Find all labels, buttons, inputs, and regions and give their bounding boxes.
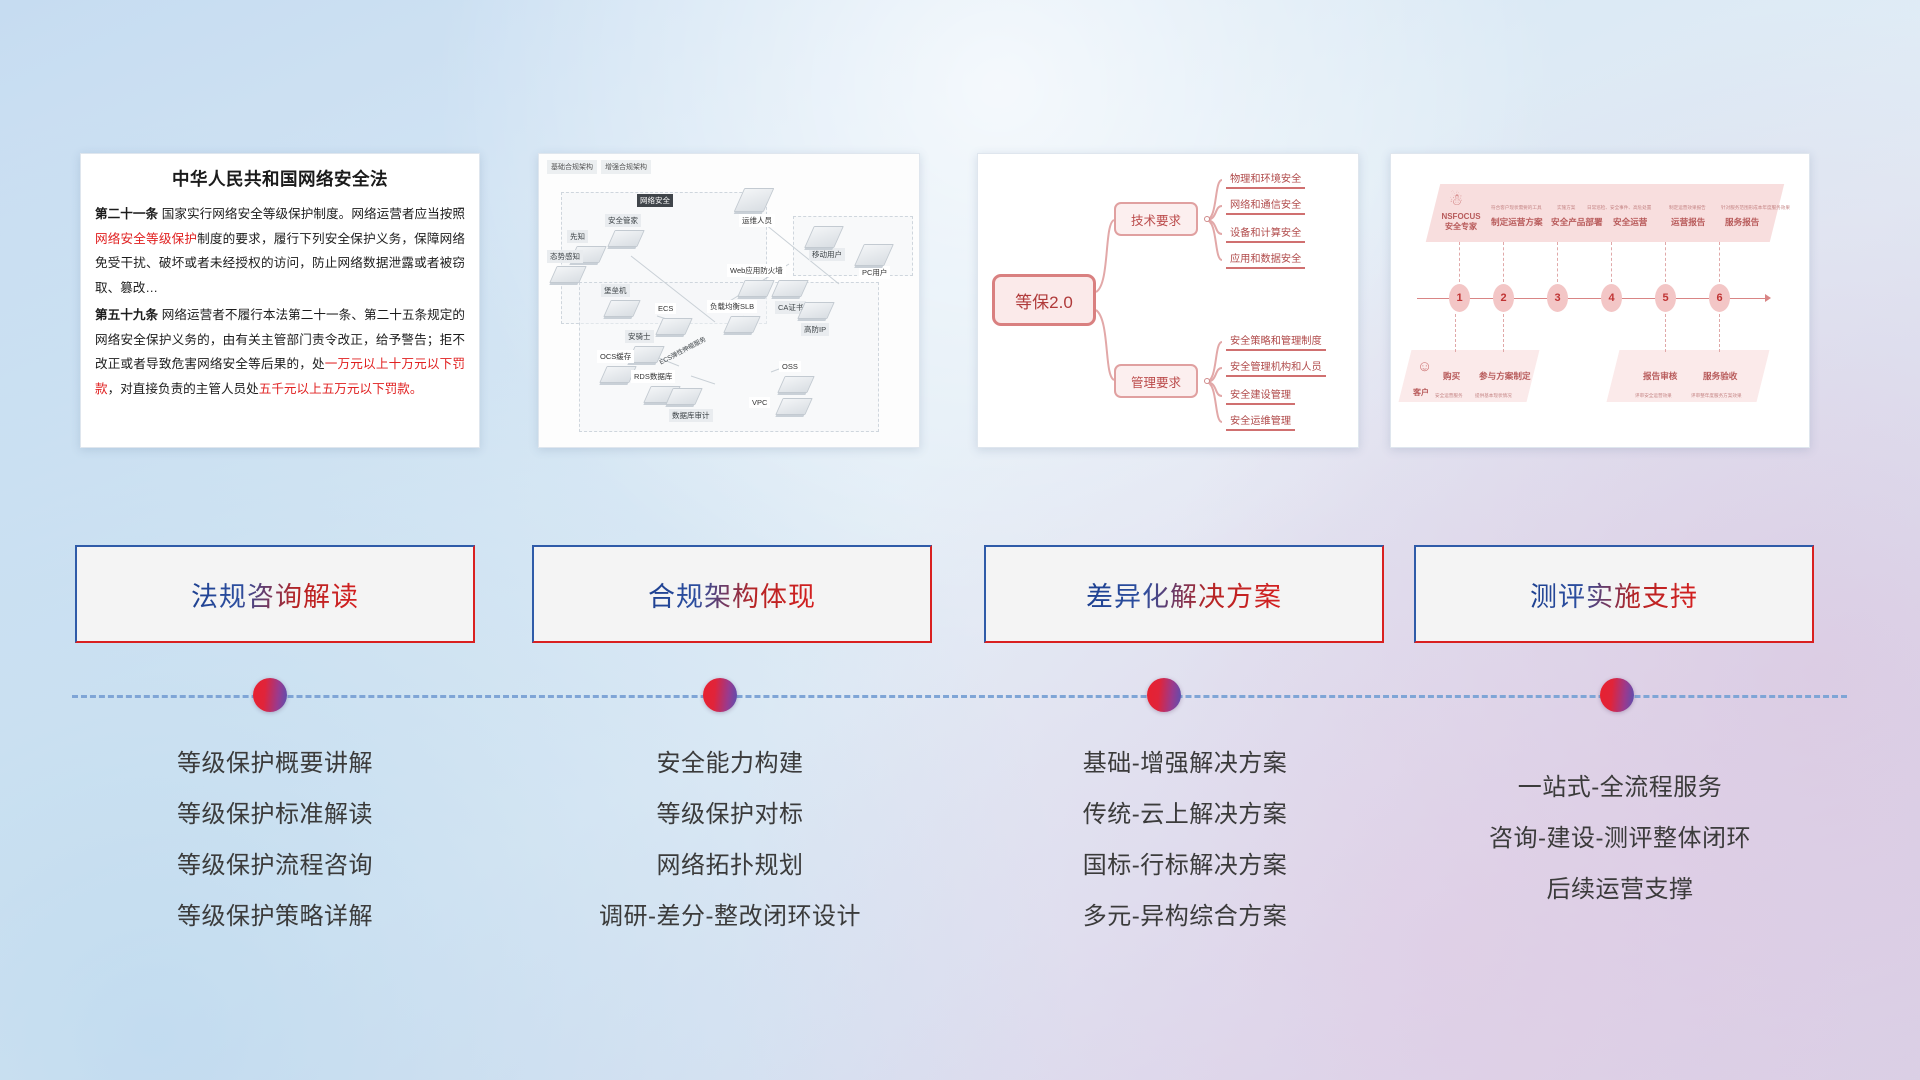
architecture-label-mobile-user: 移动用户 [809,248,845,261]
nsfocus-tick-b5 [1665,314,1666,352]
nsfocus-step-4[interactable]: 4 [1601,284,1622,312]
list-item: 等级保护流程咨询 [70,840,480,891]
nsfocus-axis-arrow-icon [1765,294,1771,302]
nsfocus-step6-bottom-sub: 评审整年度服务方案效果 [1691,393,1742,398]
architecture-cube-ca [771,280,809,297]
mindmap-leaf-org-personnel: 安全管理机构和人员 [1226,358,1326,377]
architecture-label-security-butler: 安全管家 [605,214,641,227]
list-item: 等级保护标准解读 [70,789,480,840]
architecture-cube-3 [549,266,587,283]
nsfocus-step4-top-sub: 日常巡检、安全事件、高危处置 [1587,205,1651,210]
nsfocus-step2-top-sub: 符合客户现状需要的工具 [1491,205,1542,210]
law-article-59: 第五十九条 网络运营者不履行本法第二十一条、第二十五条规定的网络安全保护义务的，… [95,303,465,401]
section-header-assessment-support[interactable]: 测评实施支持 [1414,545,1814,643]
mindmap-collapse-dot-management[interactable] [1204,378,1210,384]
detail-list-column-4: 一站式-全流程服务 咨询-建设-测评整体闭环 后续运营支撑 [1400,762,1840,915]
nsfocus-tick-1 [1459,242,1460,282]
section-header-label-1: 法规咨询解读 [191,575,359,614]
card-compliance-architecture[interactable]: 基础合规架构 增强合规架构 网络安全 安全管家 [538,153,920,448]
mindmap-diagram: 等保2.0 技术要求 物理和环境安全 网络和通信安全 [978,154,1358,447]
timeline-bullet-3[interactable] [1147,678,1181,712]
architecture-label-waf: Web应用防火墙 [727,264,786,277]
section-headers-row: 法规咨询解读 合规架构体现 差异化解决方案 测评实施支持 [0,545,1920,643]
section-header-differentiated-solution[interactable]: 差异化解决方案 [984,545,1384,643]
architecture-label-pc-user: PC用户 [859,266,890,279]
law-title: 中华人民共和国网络安全法 [95,166,465,191]
mindmap-leaf-policy-system: 安全策略和管理制度 [1226,332,1326,351]
nsfocus-timeline-diagram: ☃ NSFOCUS 安全专家 符合客户现状需要的工具 制定运营方案 实施方案 安… [1391,154,1809,447]
architecture-diagram: 基础合规架构 增强合规架构 网络安全 安全管家 [539,154,919,447]
nsfocus-step-1[interactable]: 1 [1449,284,1470,312]
list-item: 一站式-全流程服务 [1400,762,1840,813]
detail-list-column-1: 等级保护概要讲解 等级保护标准解读 等级保护流程咨询 等级保护策略详解 [70,738,480,942]
detail-list-column-3: 基础-增强解决方案 传统-云上解决方案 国标-行标解决方案 多元-异构综合方案 [965,738,1405,942]
law-text-body: 中华人民共和国网络安全法 第二十一条 国家实行网络安全等级保护制度。网络运营者应… [81,154,479,412]
mindmap-leaf-construction-mgmt: 安全建设管理 [1226,386,1295,405]
card-nsfocus-service-flow[interactable]: ☃ NSFOCUS 安全专家 符合客户现状需要的工具 制定运营方案 实施方案 安… [1390,153,1810,448]
nsfocus-tick-3 [1557,242,1558,282]
timeline-dashed-line [72,695,1847,698]
section-header-compliance-architecture[interactable]: 合规架构体现 [532,545,932,643]
nsfocus-step6-top-cap: 服务报告 [1725,217,1759,227]
nsfocus-tick-6 [1719,242,1720,282]
law-article-21-highlight: 网络安全等级保护 [95,232,197,246]
architecture-cube-slb [723,316,761,333]
nsfocus-step6-bottom-cap: 服务验收 [1703,371,1737,381]
list-item: 等级保护策略详解 [70,891,480,942]
list-item: 传统-云上解决方案 [965,789,1405,840]
architecture-cube-antiddos [797,302,835,319]
nsfocus-step-3[interactable]: 3 [1547,284,1568,312]
law-article-59-label: 第五十九条 [95,308,158,322]
section-header-label-2: 合规架构体现 [648,575,816,614]
list-item: 等级保护对标 [525,789,935,840]
architecture-cube-1 [607,230,645,247]
nsfocus-tick-b6 [1719,314,1720,352]
nsfocus-step3-top-sub: 实施方案 [1557,205,1575,210]
architecture-cube-oss [777,376,815,393]
list-item: 网络拓扑规划 [525,840,935,891]
detail-lists-row: 等级保护概要讲解 等级保护标准解读 等级保护流程咨询 等级保护策略详解 安全能力… [0,738,1920,988]
architecture-cube-ops [734,188,775,212]
reference-cards-row: 中华人民共和国网络安全法 第二十一条 国家实行网络安全等级保护制度。网络运营者应… [0,0,1920,470]
card-cybersecurity-law[interactable]: 中华人民共和国网络安全法 第二十一条 国家实行网络安全等级保护制度。网络运营者应… [80,153,480,448]
architecture-cube-db-audit [665,388,703,405]
architecture-label-anqishi: 安骑士 [625,330,654,343]
list-item: 基础-增强解决方案 [965,738,1405,789]
nsfocus-step5-bottom-sub: 评审安全运营效果 [1635,393,1672,398]
architecture-label-ops-staff: 运维人员 [739,214,775,227]
law-article-21: 第二十一条 国家实行网络安全等级保护制度。网络运营者应当按照网络安全等级保护制度… [95,202,465,300]
section-header-label-3: 差异化解决方案 [1086,575,1282,614]
list-item: 多元-异构综合方案 [965,891,1405,942]
law-article-59-highlight-2: 五千元以上五万元以下罚款。 [259,382,423,396]
mindmap-leaf-network-comm: 网络和通信安全 [1226,196,1305,215]
list-item: 等级保护概要讲解 [70,738,480,789]
architecture-label-xianzhi: 先知 [567,230,588,243]
architecture-label-oss: OSS [779,361,801,372]
nsfocus-tick-2 [1503,242,1504,282]
architecture-label-anti-ddos-ip: 高防IP [801,323,829,336]
architecture-cube-4 [603,300,641,317]
architecture-label-ocs-cache: OCS缓存 [597,350,634,363]
mindmap-leaf-ops-mgmt: 安全运维管理 [1226,412,1295,431]
nsfocus-expert-role-line1: NSFOCUS [1435,212,1487,221]
mindmap-branch-management: 管理要求 [1114,364,1198,398]
timeline-bullet-2[interactable] [703,678,737,712]
nsfocus-step-5[interactable]: 5 [1655,284,1676,312]
architecture-cube-waf [737,280,775,297]
detail-list-column-2: 安全能力构建 等级保护对标 网络拓扑规划 调研-差分-整改闭环设计 [525,738,935,942]
mindmap-leaf-app-data: 应用和数据安全 [1226,250,1305,269]
nsfocus-step3-top-cap: 安全产品部署 [1551,217,1603,227]
nsfocus-expert-role: NSFOCUS 安全专家 [1435,212,1487,232]
mindmap-root: 等保2.0 [992,274,1096,326]
architecture-label-db-audit: 数据库审计 [669,409,713,422]
nsfocus-step1-bottom-cap: 购买 [1443,371,1460,381]
architecture-label-bastion-host: 堡垒机 [601,284,630,297]
architecture-cube-pc [854,244,894,266]
nsfocus-tick-b2 [1503,314,1504,352]
architecture-label-slb: 负载均衡SLB [707,300,757,313]
nsfocus-tick-5 [1665,242,1666,282]
architecture-label-rds: RDS数据库 [631,370,675,383]
customer-person-icon: ☺ [1417,358,1432,375]
law-article-59-mid: ，对直接负责的主管人员处 [108,382,259,396]
nsfocus-customer-band-right [1607,350,1770,402]
nsfocus-step5-top-sub: 制定运营效果报告 [1669,205,1706,210]
nsfocus-customer-role: 客户 [1413,388,1429,397]
mindmap-branch-technical: 技术要求 [1114,202,1198,236]
section-header-regulation-consulting[interactable]: 法规咨询解读 [75,545,475,643]
expert-person-icon: ☃ [1449,190,1463,210]
list-item: 调研-差分-整改闭环设计 [525,891,935,942]
list-item: 国标-行标解决方案 [965,840,1405,891]
architecture-label-network-security: 网络安全 [637,194,673,207]
nsfocus-step5-bottom-cap: 报告审核 [1643,371,1677,381]
nsfocus-expert-role-line2: 安全专家 [1435,221,1487,232]
timeline-connector [0,669,1920,723]
nsfocus-step6-top-sub: 针对服务范围形成本年度服务效果 [1721,205,1790,210]
card-dengbao-mindmap[interactable]: 等保2.0 技术要求 物理和环境安全 网络和通信安全 [977,153,1359,448]
law-article-21-label: 第二十一条 [95,207,158,221]
nsfocus-step2-bottom-sub: 提供基本现状情况 [1475,393,1512,398]
architecture-cube-mobile [804,226,844,248]
nsfocus-step1-bottom-sub: 安全运营服务 [1435,393,1463,398]
mindmap-leaf-physical-env: 物理和环境安全 [1226,170,1305,189]
list-item: 咨询-建设-测评整体闭环 [1400,813,1840,864]
mindmap-leaf-device-compute: 设备和计算安全 [1226,224,1305,243]
law-article-21-pre: 国家实行网络安全等级保护制度。网络运营者应当按照 [158,207,465,221]
architecture-label-ecs: ECS [655,303,676,314]
nsfocus-tick-b1 [1455,314,1456,352]
nsfocus-step5-top-cap: 运营报告 [1671,217,1705,227]
timeline-bullet-4[interactable] [1600,678,1634,712]
nsfocus-tick-4 [1611,242,1612,282]
architecture-label-vpc: VPC [749,397,770,408]
architecture-cube-vpc [775,398,813,415]
timeline-bullet-1[interactable] [253,678,287,712]
nsfocus-step2-top-cap: 制定运营方案 [1491,217,1543,227]
architecture-label-situational-awareness: 态势感知 [547,250,583,263]
nsfocus-step-6[interactable]: 6 [1709,284,1730,312]
nsfocus-step-2[interactable]: 2 [1493,284,1514,312]
nsfocus-step4-top-cap: 安全运营 [1613,217,1647,227]
list-item: 后续运营支撑 [1400,864,1840,915]
section-header-label-4: 测评实施支持 [1530,575,1698,614]
mindmap-collapse-dot-technical[interactable] [1204,216,1210,222]
list-item: 安全能力构建 [525,738,935,789]
nsfocus-step2-bottom-cap: 参与方案制定 [1479,371,1531,381]
